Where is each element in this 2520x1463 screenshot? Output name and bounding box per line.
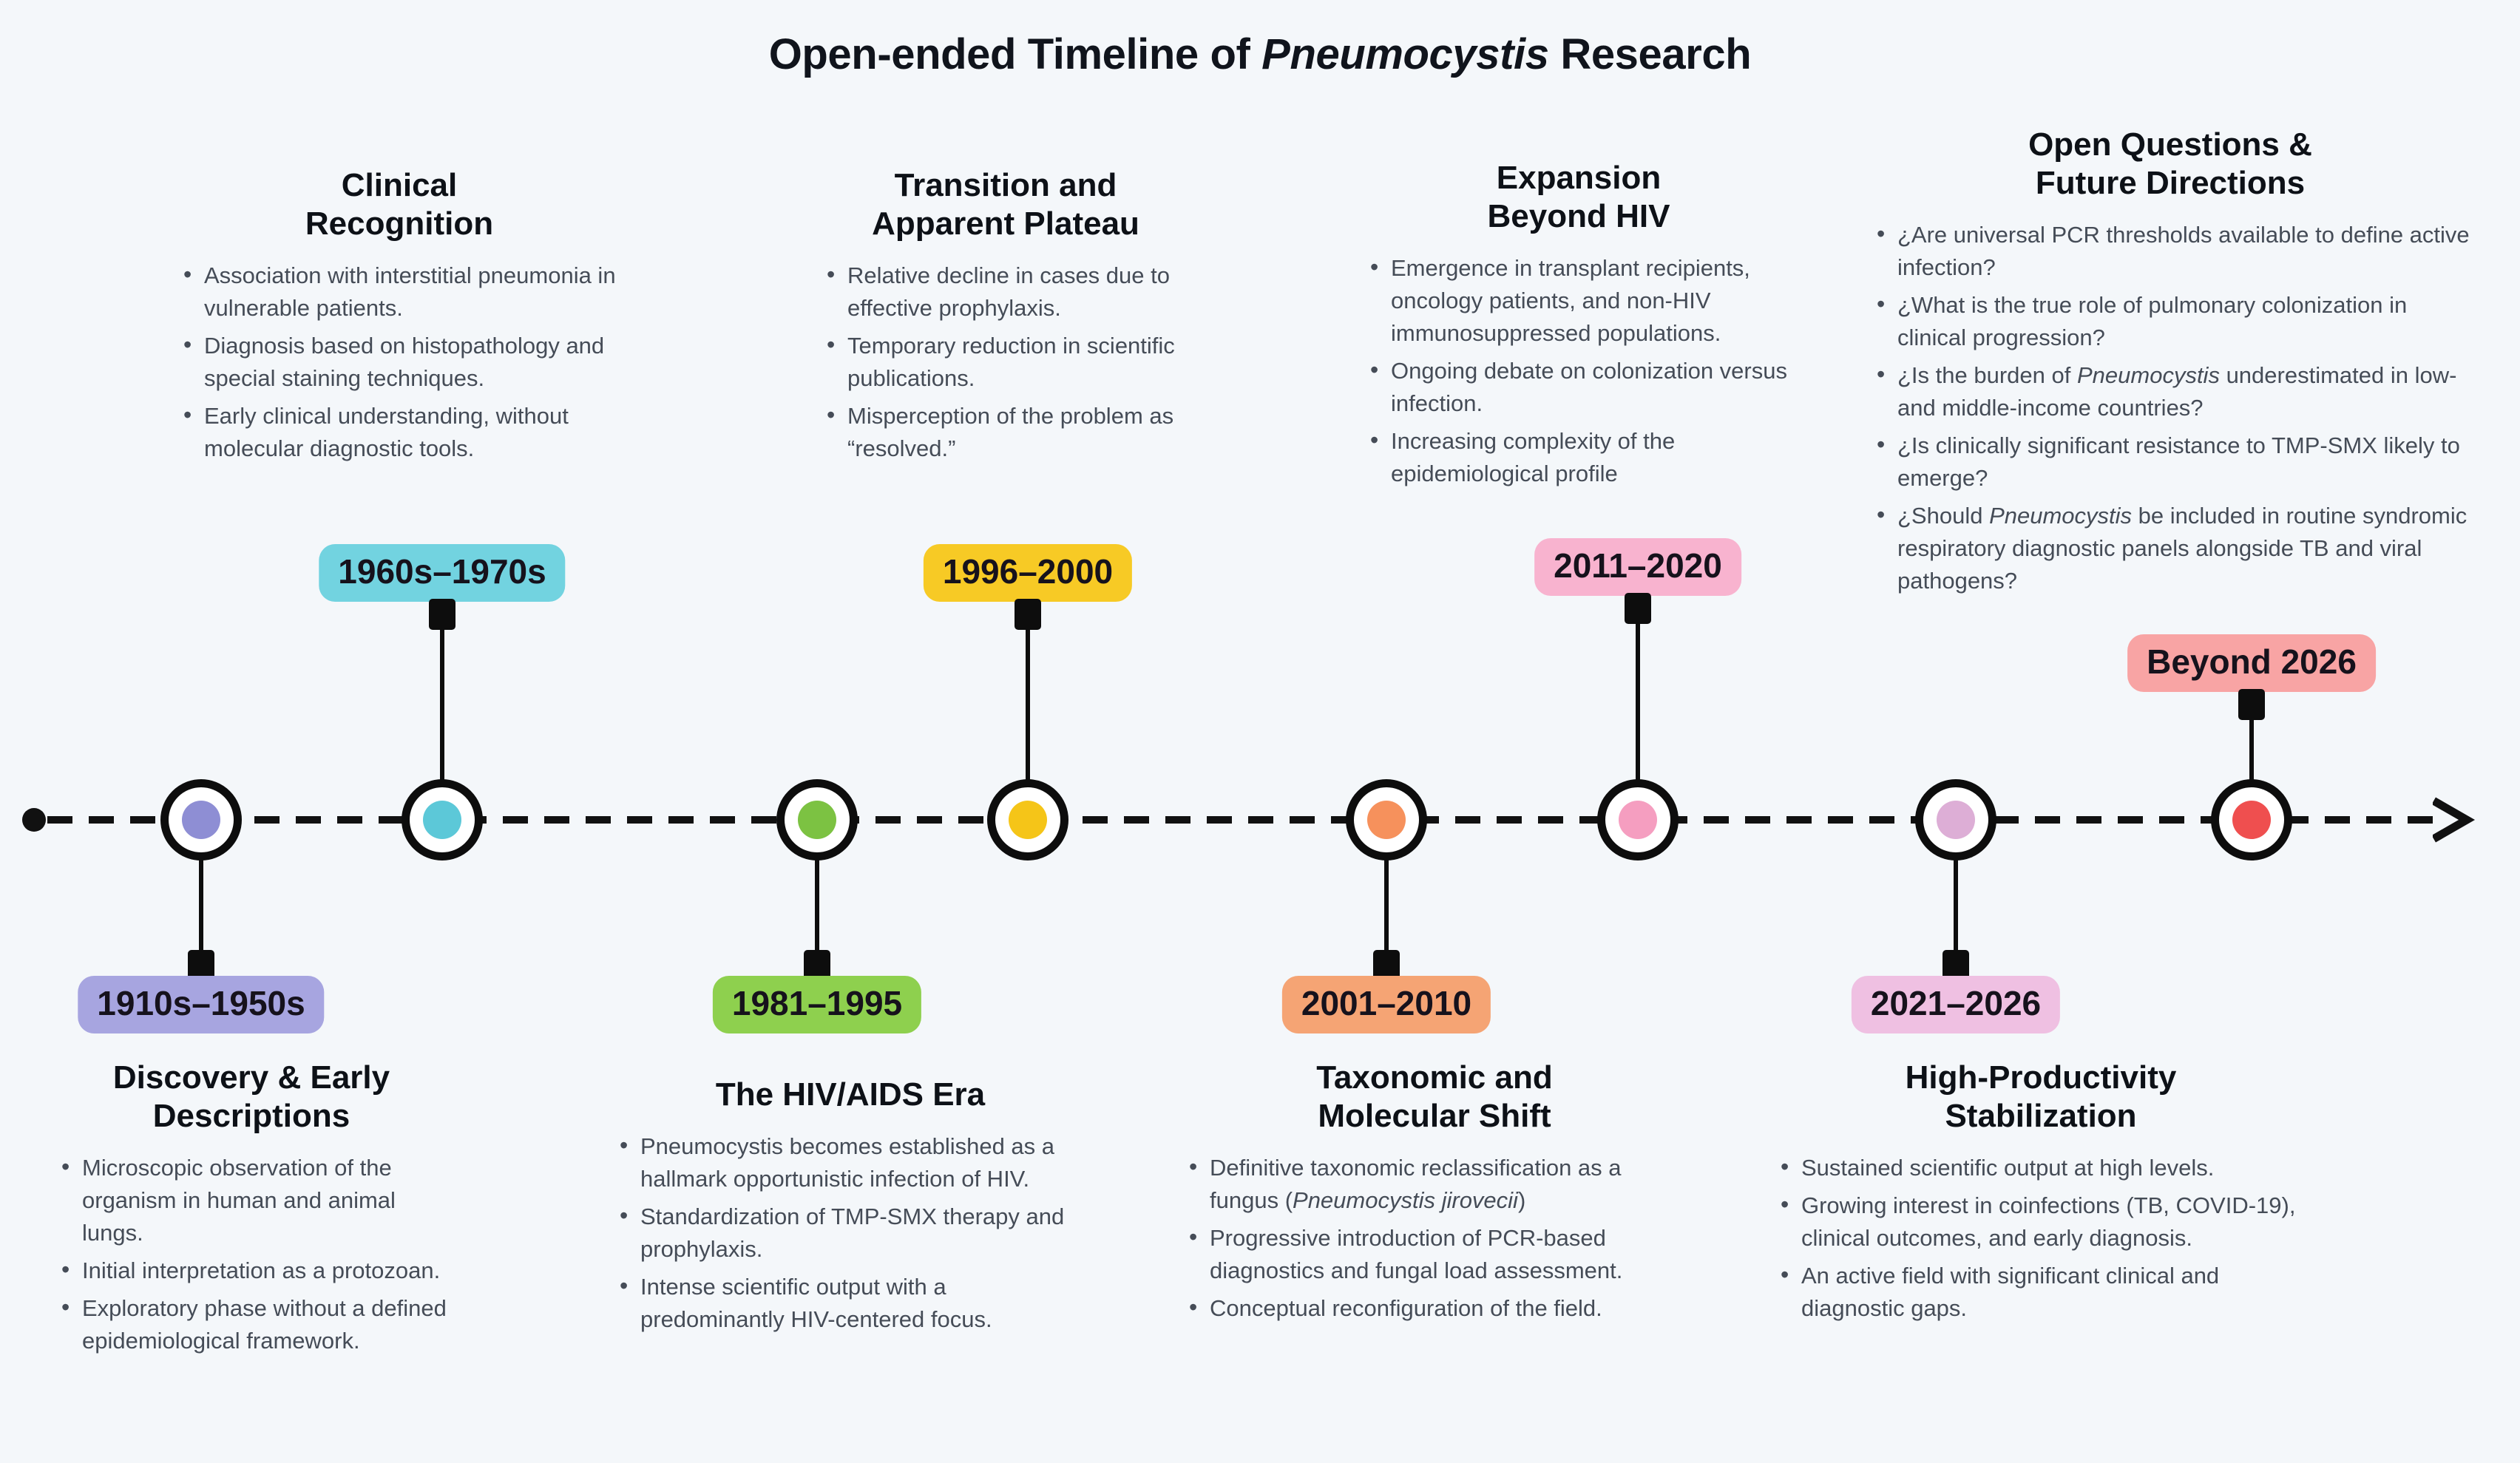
list-item: ¿Is the burden of Pneumocystis underesti…: [1871, 359, 2470, 424]
list-item: ¿Should Pneumocystis be included in rout…: [1871, 500, 2470, 597]
event-block-high-productivity-stabilization: High-Productivity Stabilization Sustaine…: [1775, 1059, 2307, 1330]
list-item: Growing interest in coinfections (TB, CO…: [1775, 1189, 2307, 1255]
event-bullets-expansion-beyond-hiv: Emergence in transplant recipients, onco…: [1364, 252, 1793, 490]
heading-line-1: Discovery & Early: [113, 1059, 390, 1096]
connector-stem-1960s-1970s: [440, 603, 444, 784]
marker-dot: [423, 801, 461, 839]
list-item: Definitive taxonomic reclassification as…: [1183, 1152, 1686, 1217]
connector-stem-1910s-1950s: [199, 856, 203, 977]
marker-dot: [798, 801, 836, 839]
heading-line-2: Descriptions: [153, 1098, 350, 1134]
list-item: Exploratory phase without a defined epid…: [55, 1292, 447, 1357]
heading-line-2: Molecular Shift: [1318, 1098, 1551, 1134]
axis-arrow-icon: [2433, 797, 2477, 843]
stem-nub: [2238, 689, 2265, 720]
event-bullets-open-questions: ¿Are universal PCR thresholds available …: [1871, 219, 2470, 597]
timeline-axis: [22, 816, 2477, 824]
list-item: Relative decline in cases due to effecti…: [821, 259, 1190, 325]
list-item: ¿What is the true role of pulmonary colo…: [1871, 289, 2470, 354]
marker-dot: [1937, 801, 1975, 839]
connector-stem-2001-2010: [1384, 856, 1389, 977]
event-block-taxonomic-molecular-shift: Taxonomic and Molecular Shift Definitive…: [1183, 1059, 1686, 1330]
heading-line-1: High-Productivity: [1906, 1059, 2177, 1096]
event-bullets-hiv-aids-era: Pneumocystis becomes established as a ha…: [614, 1130, 1087, 1336]
date-badge-1996-2000[interactable]: 1996–2000: [924, 544, 1132, 602]
list-item: ¿Are universal PCR thresholds available …: [1871, 219, 2470, 284]
event-heading-taxonomic-molecular-shift: Taxonomic and Molecular Shift: [1183, 1059, 1686, 1136]
list-item: Progressive introduction of PCR-based di…: [1183, 1222, 1686, 1287]
heading-line-2: Stabilization: [1945, 1098, 2136, 1134]
list-item: Intense scientific output with a predomi…: [614, 1271, 1087, 1336]
list-item: Early clinical understanding, without mo…: [177, 400, 621, 465]
list-item: Temporary reduction in scientific public…: [821, 330, 1190, 395]
heading-line-1: Transition and: [895, 167, 1117, 203]
species-name: Pneumocystis: [640, 1133, 783, 1159]
heading-line-2: Future Directions: [2036, 165, 2305, 201]
list-item: Misperception of the problem as “resolve…: [821, 400, 1190, 465]
list-item: Emergence in transplant recipients, onco…: [1364, 252, 1793, 350]
event-heading-discovery: Discovery & Early Descriptions: [55, 1059, 447, 1136]
species-name: Pneumocystis: [2077, 362, 2220, 388]
timeline-marker-2021-2026[interactable]: [1915, 779, 1996, 861]
connector-stem-1981-1995: [815, 856, 819, 977]
title-italic-term: Pneumocystis: [1261, 30, 1548, 78]
event-heading-open-questions: Open Questions & Future Directions: [1871, 126, 2470, 203]
axis-start-dot: [22, 808, 46, 832]
species-name: Pneumocystis jirovecii: [1293, 1187, 1518, 1213]
event-block-discovery: Discovery & Early Descriptions Microscop…: [55, 1059, 447, 1362]
event-block-open-questions: Open Questions & Future Directions ¿Are …: [1871, 126, 2470, 602]
list-item: Increasing complexity of the epidemiolog…: [1364, 425, 1793, 490]
timeline-marker-1910s-1950s[interactable]: [160, 779, 242, 861]
date-badge-1981-1995[interactable]: 1981–1995: [713, 976, 921, 1033]
heading-line-1: The HIV/AIDS Era: [716, 1076, 985, 1113]
stem-nub: [1625, 593, 1651, 624]
marker-dot: [2232, 801, 2271, 839]
event-block-expansion-beyond-hiv: Expansion Beyond HIV Emergence in transp…: [1364, 159, 1793, 495]
list-item: An active field with significant clinica…: [1775, 1260, 2307, 1325]
timeline-marker-2011-2020[interactable]: [1597, 779, 1679, 861]
marker-dot: [1619, 801, 1657, 839]
event-block-clinical-recognition: Clinical Recognition Association with in…: [177, 166, 621, 470]
marker-dot: [1009, 801, 1047, 839]
timeline-marker-beyond-2026[interactable]: [2211, 779, 2292, 861]
heading-line-1: Open Questions &: [2028, 126, 2312, 163]
list-item: Association with interstitial pneumonia …: [177, 259, 621, 325]
connector-stem-2011-2020: [1636, 597, 1640, 784]
event-bullets-clinical-recognition: Association with interstitial pneumonia …: [177, 259, 621, 465]
marker-dot: [1367, 801, 1406, 839]
connector-stem-beyond-2026: [2249, 693, 2254, 784]
event-bullets-taxonomic-molecular-shift: Definitive taxonomic reclassification as…: [1183, 1152, 1686, 1325]
timeline-infographic: Open-ended Timeline of Pneumocystis Rese…: [0, 0, 2520, 1463]
heading-line-2: Recognition: [305, 206, 493, 242]
list-item: Initial interpretation as a protozoan.: [55, 1255, 447, 1287]
heading-line-2: Apparent Plateau: [872, 206, 1139, 242]
heading-line-1: Clinical: [342, 167, 458, 203]
timeline-marker-1996-2000[interactable]: [987, 779, 1068, 861]
event-heading-clinical-recognition: Clinical Recognition: [177, 166, 621, 243]
event-bullets-high-productivity-stabilization: Sustained scientific output at high leve…: [1775, 1152, 2307, 1325]
event-heading-expansion-beyond-hiv: Expansion Beyond HIV: [1364, 159, 1793, 236]
list-item: Sustained scientific output at high leve…: [1775, 1152, 2307, 1184]
event-bullets-transition-plateau: Relative decline in cases due to effecti…: [821, 259, 1190, 465]
event-heading-hiv-aids-era: The HIV/AIDS Era: [614, 1076, 1087, 1114]
event-block-transition-plateau: Transition and Apparent Plateau Relative…: [821, 166, 1190, 470]
date-badge-1960s-1970s[interactable]: 1960s–1970s: [319, 544, 565, 602]
event-bullets-discovery: Microscopic observation of the organism …: [55, 1152, 447, 1357]
heading-line-2: Beyond HIV: [1488, 198, 1670, 234]
list-item: Diagnosis based on histopathology and sp…: [177, 330, 621, 395]
list-item: Conceptual reconfiguration of the field.: [1183, 1292, 1686, 1325]
date-badge-2021-2026[interactable]: 2021–2026: [1852, 976, 2060, 1033]
list-item: Ongoing debate on colonization versus in…: [1364, 355, 1793, 420]
connector-stem-1996-2000: [1026, 603, 1030, 784]
date-badge-beyond-2026[interactable]: Beyond 2026: [2127, 634, 2376, 692]
species-name: Pneumocystis: [1989, 503, 2132, 529]
stem-nub: [429, 599, 455, 630]
timeline-marker-2001-2010[interactable]: [1346, 779, 1427, 861]
date-badge-1910s-1950s[interactable]: 1910s–1950s: [78, 976, 324, 1033]
date-badge-2011-2020[interactable]: 2011–2020: [1534, 538, 1741, 596]
timeline-marker-1981-1995[interactable]: [776, 779, 858, 861]
title-after: Research: [1549, 30, 1752, 78]
heading-line-1: Taxonomic and: [1316, 1059, 1552, 1096]
list-item: ¿Is clinically significant resistance to…: [1871, 430, 2470, 495]
marker-dot: [182, 801, 220, 839]
event-heading-high-productivity-stabilization: High-Productivity Stabilization: [1775, 1059, 2307, 1136]
list-item: Pneumocystis becomes established as a ha…: [614, 1130, 1087, 1195]
page-title: Open-ended Timeline of Pneumocystis Rese…: [0, 30, 2520, 79]
stem-nub: [1015, 599, 1041, 630]
heading-line-1: Expansion: [1497, 160, 1662, 196]
event-block-hiv-aids-era: The HIV/AIDS Era Pneumocystis becomes es…: [614, 1076, 1087, 1341]
event-heading-transition-plateau: Transition and Apparent Plateau: [821, 166, 1190, 243]
title-before: Open-ended Timeline of: [769, 30, 1261, 78]
date-badge-2001-2010[interactable]: 2001–2010: [1282, 976, 1491, 1033]
connector-stem-2021-2026: [1954, 856, 1958, 977]
timeline-marker-1960s-1970s[interactable]: [402, 779, 483, 861]
list-item: Microscopic observation of the organism …: [55, 1152, 447, 1249]
list-item: Standardization of TMP-SMX therapy and p…: [614, 1201, 1087, 1266]
